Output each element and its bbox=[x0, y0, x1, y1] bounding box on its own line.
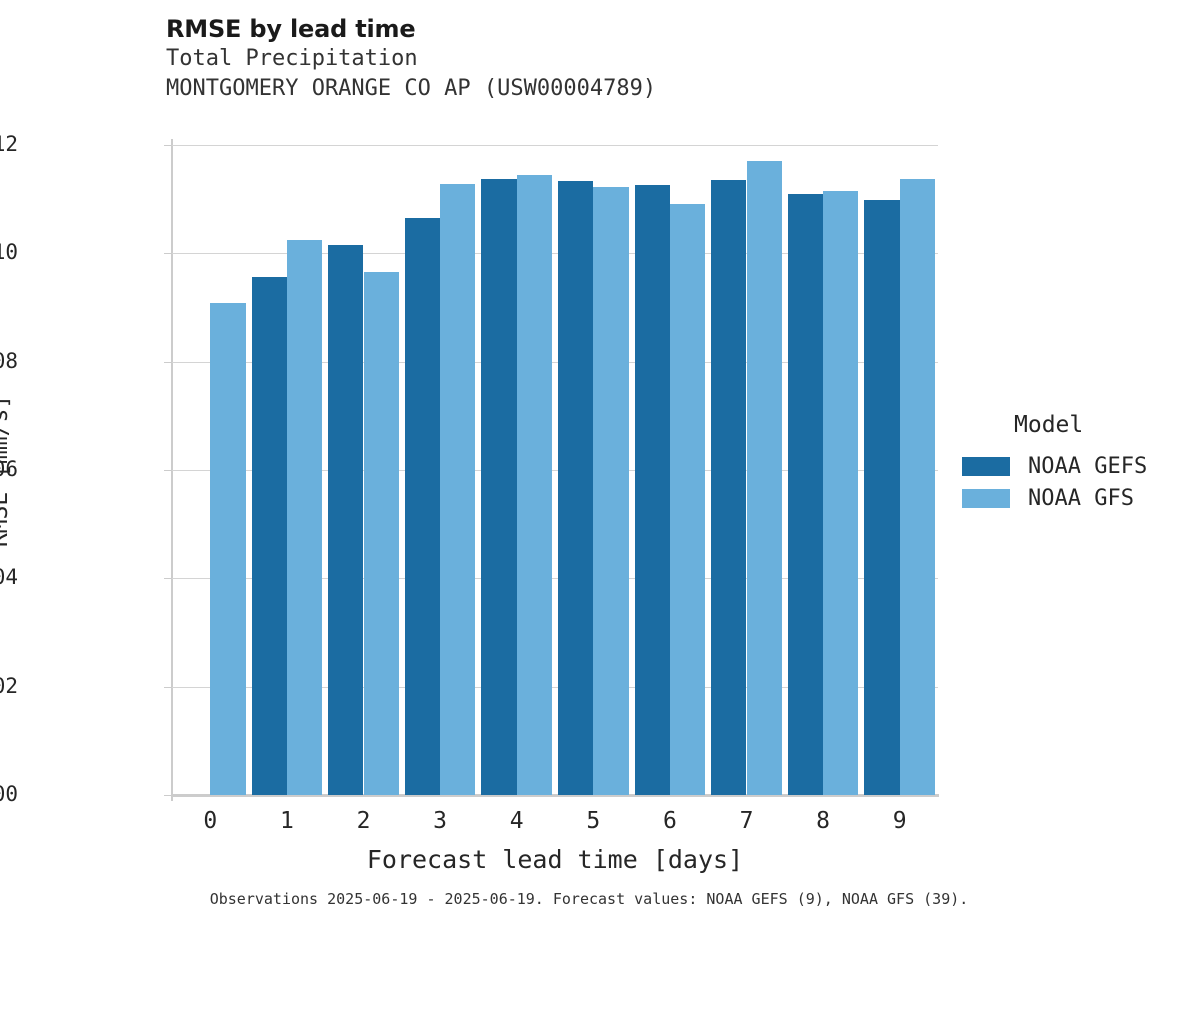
legend-title: Model bbox=[1014, 410, 1172, 440]
x-tick-label-2: 2 bbox=[334, 808, 394, 834]
x-tick-label-5: 5 bbox=[563, 808, 623, 834]
bar-noaa-gfs-lead-9[interactable] bbox=[900, 179, 935, 795]
legend: Model NOAA GEFSNOAA GFS bbox=[962, 410, 1172, 514]
bar-noaa-gefs-lead-3[interactable] bbox=[405, 218, 440, 795]
x-tick-label-1: 1 bbox=[257, 808, 317, 834]
chart-subtitle-variable: Total Precipitation bbox=[166, 44, 986, 74]
y-tick-mark bbox=[164, 795, 172, 796]
legend-entries: NOAA GEFSNOAA GFS bbox=[962, 450, 1172, 514]
x-axis-label: Forecast lead time [days] bbox=[172, 845, 938, 874]
bar-noaa-gefs-lead-9[interactable] bbox=[864, 200, 899, 795]
footer-caption: Observations 2025-06-19 - 2025-06-19. Fo… bbox=[0, 890, 1178, 908]
y-tick-mark bbox=[164, 578, 172, 579]
bar-noaa-gefs-lead-5[interactable] bbox=[558, 181, 593, 795]
bar-noaa-gfs-lead-2[interactable] bbox=[364, 272, 399, 795]
bar-noaa-gfs-lead-5[interactable] bbox=[593, 187, 628, 795]
legend-label: NOAA GEFS bbox=[1028, 454, 1147, 479]
y-axis-label: RMSE [mm/s] bbox=[0, 0, 13, 1011]
bar-noaa-gfs-lead-3[interactable] bbox=[440, 184, 475, 795]
legend-label: NOAA GFS bbox=[1028, 486, 1134, 511]
page-title: RMSE by lead time bbox=[166, 14, 986, 44]
bar-noaa-gfs-lead-4[interactable] bbox=[517, 175, 552, 795]
bar-noaa-gefs-lead-7[interactable] bbox=[711, 180, 746, 795]
title-block: RMSE by lead time Total Precipitation MO… bbox=[166, 14, 986, 104]
bar-noaa-gefs-lead-1[interactable] bbox=[252, 277, 287, 795]
chart-subtitle-station: MONTGOMERY ORANGE CO AP (USW00004789) bbox=[166, 74, 986, 104]
y-tick-mark bbox=[164, 145, 172, 146]
legend-swatch bbox=[962, 457, 1010, 476]
y-tick-mark bbox=[164, 253, 172, 254]
chart-root: RMSE by lead time Total Precipitation MO… bbox=[0, 0, 1178, 928]
bar-noaa-gfs-lead-8[interactable] bbox=[823, 191, 858, 796]
y-tick-mark bbox=[164, 687, 172, 688]
bar-noaa-gfs-lead-1[interactable] bbox=[287, 240, 322, 795]
bar-noaa-gefs-lead-6[interactable] bbox=[635, 185, 670, 795]
bar-noaa-gefs-lead-2[interactable] bbox=[328, 245, 363, 795]
bar-noaa-gefs-lead-8[interactable] bbox=[788, 194, 823, 795]
legend-swatch bbox=[962, 489, 1010, 508]
y-tick-mark bbox=[164, 362, 172, 363]
bars-layer bbox=[172, 145, 938, 795]
bar-noaa-gefs-lead-4[interactable] bbox=[481, 179, 516, 795]
x-tick-label-7: 7 bbox=[717, 808, 777, 834]
x-tick-label-4: 4 bbox=[487, 808, 547, 834]
x-tick-label-3: 3 bbox=[410, 808, 470, 834]
x-tick-label-6: 6 bbox=[640, 808, 700, 834]
legend-item-noaa-gfs[interactable]: NOAA GFS bbox=[962, 482, 1172, 514]
bar-noaa-gfs-lead-7[interactable] bbox=[747, 161, 782, 795]
bar-noaa-gfs-lead-0[interactable] bbox=[210, 303, 245, 795]
bar-noaa-gfs-lead-6[interactable] bbox=[670, 204, 705, 796]
x-tick-label-0: 0 bbox=[180, 808, 240, 834]
y-tick-mark bbox=[164, 470, 172, 471]
x-tick-label-9: 9 bbox=[870, 808, 930, 834]
legend-item-noaa-gefs[interactable]: NOAA GEFS bbox=[962, 450, 1172, 482]
x-tick-label-8: 8 bbox=[793, 808, 853, 834]
